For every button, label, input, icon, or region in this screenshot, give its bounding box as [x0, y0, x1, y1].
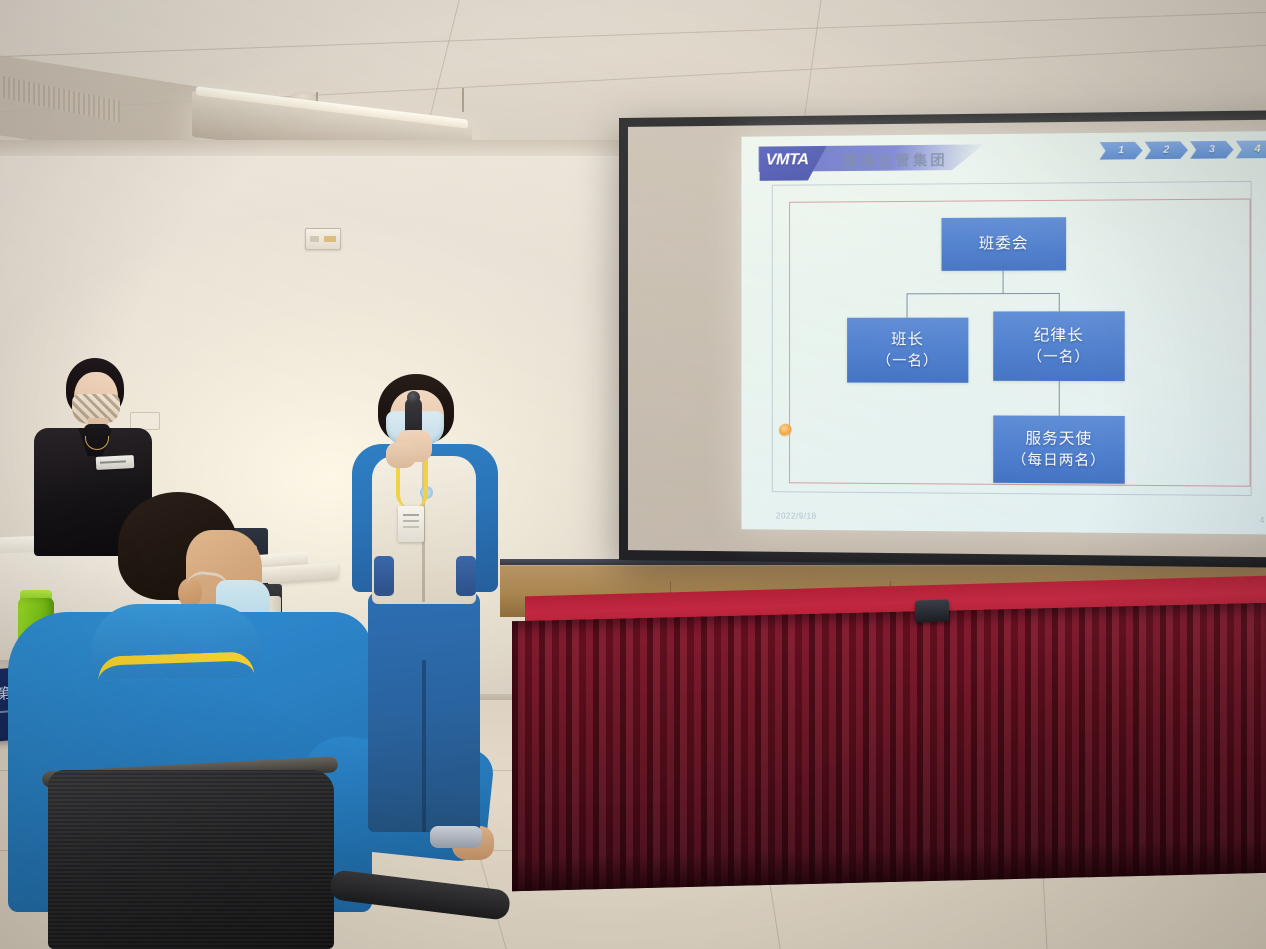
- projection-screen: VMTA 健峰企管集团 1 2 3 4 班委会: [619, 110, 1266, 568]
- org-chart-frame: 班委会 班长 （一名） 纪律长 （一名）: [789, 198, 1251, 486]
- slide-header: VMTA 健峰企管集团 1 2 3 4: [741, 135, 1266, 177]
- step-chevron-row: 1 2 3 4: [1100, 140, 1266, 159]
- screen-surface: VMTA 健峰企管集团 1 2 3 4 班委会: [628, 120, 1266, 558]
- connector-horizontal: [907, 293, 1060, 294]
- classroom-photo-scene: VMTA 健峰企管集团 1 2 3 4 班委会: [0, 0, 1266, 949]
- staff-name-badge: [96, 455, 135, 470]
- step-chevron-4: 4: [1236, 140, 1266, 158]
- logo-text: VMTA: [766, 151, 809, 170]
- table-skirt: [512, 603, 1266, 892]
- slide-content-area: 班委会 班长 （一名） 纪律长 （一名）: [772, 181, 1252, 496]
- chair-backrest[interactable]: [48, 770, 334, 949]
- org-node-discipline-lead-label: 纪律长: [1034, 326, 1084, 347]
- remote-device-on-table[interactable]: [915, 599, 949, 622]
- org-node-service-angel: 服务天使 （每日两名）: [993, 415, 1125, 483]
- step-chevron-1: 1: [1100, 142, 1143, 160]
- wall-control-panel[interactable]: [305, 228, 341, 250]
- step-chevron-2: 2: [1145, 141, 1188, 159]
- step-chevron-3: 3: [1190, 141, 1233, 159]
- slide-page-number: 4: [1260, 516, 1265, 525]
- org-node-service-angel-label: 服务天使: [1025, 429, 1092, 450]
- org-node-service-angel-count: （每日两名）: [1012, 450, 1106, 470]
- org-node-discipline-lead: 纪律长 （一名）: [993, 311, 1125, 381]
- connector-vertical-right: [1059, 293, 1060, 311]
- org-node-committee: 班委会: [942, 217, 1067, 271]
- speaker-pocket-right: [456, 556, 476, 596]
- org-node-committee-label: 班委会: [979, 234, 1029, 255]
- laser-pointer-dot: [779, 424, 792, 437]
- connector-vertical-left: [907, 293, 908, 317]
- org-node-class-monitor-label: 班长: [891, 330, 924, 351]
- speaker-pocket-left: [374, 556, 394, 596]
- connector-vertical-top: [1003, 271, 1004, 293]
- slide-date: 2022/9/18: [776, 511, 817, 520]
- org-node-discipline-lead-count: （一名）: [1027, 347, 1090, 366]
- presentation-slide: VMTA 健峰企管集团 1 2 3 4 班委会: [741, 131, 1266, 535]
- org-node-class-monitor: 班长 （一名）: [847, 318, 968, 383]
- connector-vertical-bottom: [1059, 381, 1060, 416]
- speaker-hand-left: [386, 442, 416, 468]
- brand-name-cn: 健峰企管集团: [843, 150, 948, 171]
- org-node-class-monitor-count: （一名）: [877, 351, 939, 370]
- speaker-leg-seam: [422, 660, 426, 832]
- speaker-shoe: [430, 826, 482, 848]
- id-card-badge: [398, 506, 424, 542]
